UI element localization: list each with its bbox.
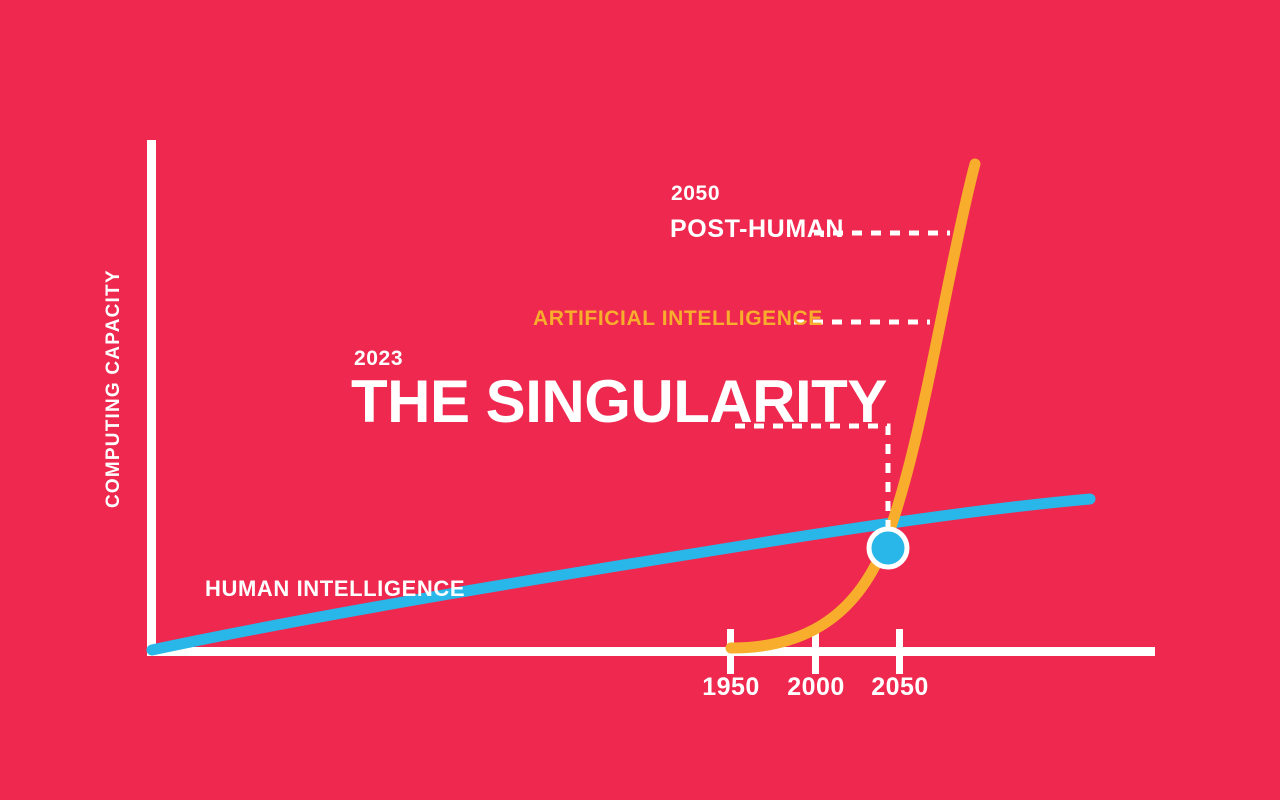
y-axis-title: COMPUTING CAPACITY: [104, 269, 123, 508]
singularity-leader-dashed: [735, 426, 888, 530]
singularity-point-marker[interactable]: [869, 529, 907, 567]
y-axis-line: [147, 140, 156, 656]
human-intelligence-curve: [152, 499, 1090, 650]
artificial-intelligence-label: ARTIFICIAL INTELLIGENCE: [533, 307, 823, 331]
x-tick-label-2050: 2050: [871, 673, 929, 702]
x-axis-line: [147, 647, 1155, 656]
x-tick-label-2000: 2000: [787, 673, 845, 702]
singularity-title: THE SINGULARITY: [351, 372, 887, 432]
posthuman-title-label: POST-HUMAN: [670, 215, 844, 244]
posthuman-year-label: 2050: [671, 182, 720, 206]
human-intelligence-label: HUMAN INTELLIGENCE: [205, 576, 465, 602]
singularity-infographic: COMPUTING CAPACITY HUMAN INTELLIGENCE AR…: [0, 0, 1280, 800]
x-tick-2050: [896, 629, 903, 674]
x-tick-label-1950: 1950: [702, 673, 760, 702]
